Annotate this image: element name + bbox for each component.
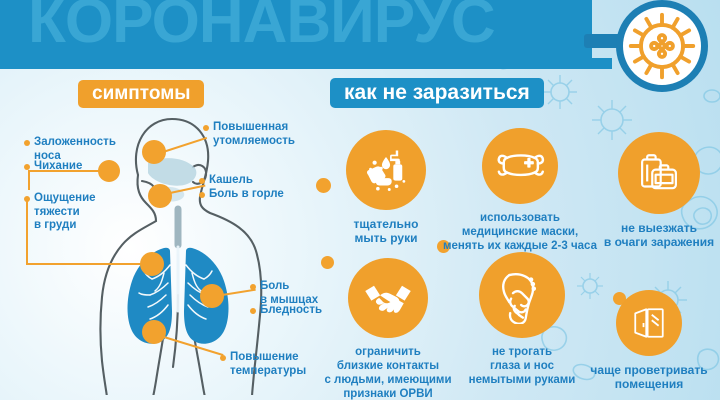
symptom-bullet-cough — [199, 178, 205, 184]
prevention-tile-limit-contacts[interactable]: ограничить близкие контакты с людьми, им… — [318, 258, 458, 400]
symptom-marker-throat — [148, 184, 172, 208]
symptom-label-cough: Кашель — [209, 174, 253, 188]
symptom-marker-muscle — [200, 284, 224, 308]
symptom-label-chest: Ощущение тяжести в груди — [34, 192, 96, 233]
infographic-poster: КОРОНАВИРУС — [0, 0, 720, 400]
symptom-line: Повышенная — [213, 121, 295, 135]
medical-mask-icon — [482, 128, 558, 204]
symptom-bullet-sneezing — [24, 164, 30, 170]
symptom-line: Повышение — [230, 351, 306, 365]
symptom-marker-chest — [140, 252, 164, 276]
prevention-tile-dont-touch-face[interactable]: не трогать глаза и нос немытыми руками — [452, 252, 592, 387]
symptom-bullet-fever — [220, 355, 226, 361]
symptom-label-fever: Повышение температуры — [230, 351, 306, 378]
page-title: КОРОНАВИРУС — [28, 0, 495, 57]
symptom-line: в груди — [34, 219, 96, 233]
prevention-caption-wash-hands: тщательно мыть руки — [332, 217, 440, 245]
coronavirus-icon — [616, 0, 708, 92]
symptom-line: тяжести — [34, 206, 96, 220]
washing-hands-icon — [346, 130, 426, 210]
prevention-caption-no-travel: не выезжать в очаги заражения — [598, 221, 720, 249]
symptom-line: Боль в горле — [209, 188, 284, 202]
touch-face-icon — [479, 252, 565, 338]
symptom-line: Бледность — [260, 304, 322, 318]
symptom-line: Боль — [260, 280, 318, 294]
leader-line-chest-v — [26, 200, 28, 264]
symptom-marker-fever — [142, 320, 166, 344]
symptom-label-muscle: Боль в мышцах — [260, 280, 318, 307]
symptom-bullet-throat — [199, 192, 205, 198]
symptom-line: утомляемость — [213, 135, 295, 149]
prevention-caption-dont-touch-face: не трогать глаза и нос немытыми руками — [452, 345, 592, 387]
symptom-label-sneezing: Чихание — [34, 160, 82, 174]
symptom-bullet-pallor — [250, 308, 256, 314]
prevention-tile-masks[interactable]: использовать медицинские маски, менять и… — [440, 128, 600, 253]
prevention-tile-wash-hands[interactable]: тщательно мыть руки — [332, 130, 440, 245]
leader-line-chest-h — [26, 263, 144, 265]
symptom-label-fatigue: Повышенная утомляемость — [213, 121, 295, 148]
symptom-line: температуры — [230, 365, 306, 379]
suitcase-icon — [618, 132, 700, 214]
prevention-caption-masks: использовать медицинские маски, менять и… — [440, 211, 600, 253]
handshake-icon — [348, 258, 428, 338]
prevention-caption-ventilate: чаще проветривать помещения — [578, 363, 720, 391]
symptom-line: Кашель — [209, 174, 253, 188]
symptom-line: Чихание — [34, 160, 82, 174]
symptom-line: Заложенность — [34, 136, 116, 150]
decorative-dot — [316, 178, 331, 193]
symptom-bullet-nose — [24, 140, 30, 146]
symptom-label-pallor: Бледность — [260, 304, 322, 318]
prevention-badge: как не заразиться — [330, 78, 544, 108]
prevention-tile-no-travel[interactable]: не выезжать в очаги заражения — [598, 132, 720, 249]
symptom-marker-nose — [98, 160, 120, 182]
symptom-bullet-muscle — [250, 284, 256, 290]
title-bar-strip — [0, 58, 612, 69]
symptom-label-nose: Заложенность носа — [34, 136, 116, 163]
symptoms-badge: симптомы — [78, 80, 204, 108]
symptom-label-throat: Боль в горле — [209, 188, 284, 202]
open-window-icon — [616, 290, 682, 356]
leader-line-sneezing — [28, 170, 30, 190]
prevention-caption-limit-contacts: ограничить близкие контакты с людьми, им… — [318, 345, 458, 400]
symptom-bullet-fatigue — [203, 125, 209, 131]
symptom-line: Ощущение — [34, 192, 96, 206]
prevention-tile-ventilate[interactable]: чаще проветривать помещения — [578, 290, 720, 391]
